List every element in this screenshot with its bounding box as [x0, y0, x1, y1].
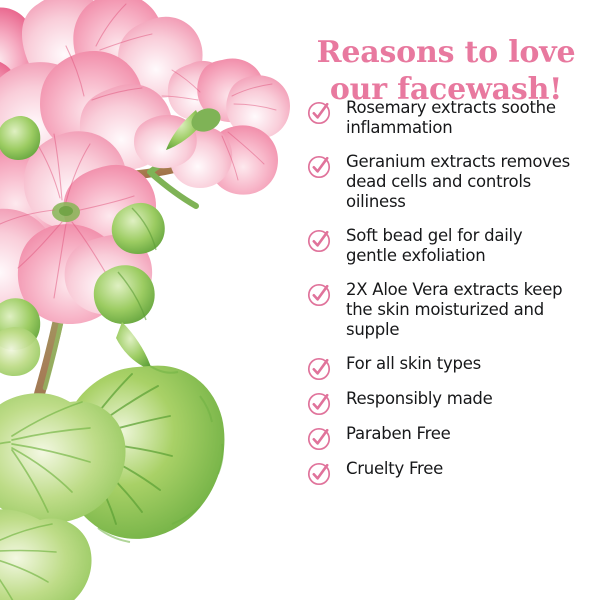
promo-graphic: Reasons to love our facewash! Rosemary e…	[0, 0, 600, 600]
check-circle-icon	[306, 390, 332, 416]
list-item-label: Responsibly made	[346, 389, 493, 409]
list-item-label: Soft bead gel for daily gentle exfoliati…	[346, 226, 578, 266]
list-item: Responsibly made	[296, 389, 600, 416]
list-item: Paraben Free	[296, 424, 600, 451]
page-title: Reasons to love our facewash!	[296, 34, 596, 108]
check-circle-icon	[306, 460, 332, 486]
geranium-illustration	[0, 0, 300, 600]
list-item: Cruelty Free	[296, 459, 600, 486]
list-item-label: For all skin types	[346, 354, 481, 374]
check-circle-icon	[306, 227, 332, 253]
list-item-label: Geranium extracts removes dead cells and…	[346, 152, 578, 212]
benefits-list: Rosemary extracts soothe inflammation Ge…	[296, 98, 600, 494]
content-column: Reasons to love our facewash! Rosemary e…	[296, 0, 600, 600]
list-item-label: Paraben Free	[346, 424, 451, 444]
check-circle-icon	[306, 153, 332, 179]
list-item-label: Cruelty Free	[346, 459, 443, 479]
list-item: Soft bead gel for daily gentle exfoliati…	[296, 226, 600, 266]
list-item-label: Rosemary extracts soothe inflammation	[346, 98, 578, 138]
check-circle-icon	[306, 281, 332, 307]
list-item: Geranium extracts removes dead cells and…	[296, 152, 600, 212]
title-line-1: Reasons to love	[296, 34, 596, 71]
list-item: For all skin types	[296, 354, 600, 381]
check-circle-icon	[306, 99, 332, 125]
list-item: 2X Aloe Vera extracts keep the skin mois…	[296, 280, 600, 340]
check-circle-icon	[306, 355, 332, 381]
check-circle-icon	[306, 425, 332, 451]
list-item: Rosemary extracts soothe inflammation	[296, 98, 600, 138]
list-item-label: 2X Aloe Vera extracts keep the skin mois…	[346, 280, 578, 340]
